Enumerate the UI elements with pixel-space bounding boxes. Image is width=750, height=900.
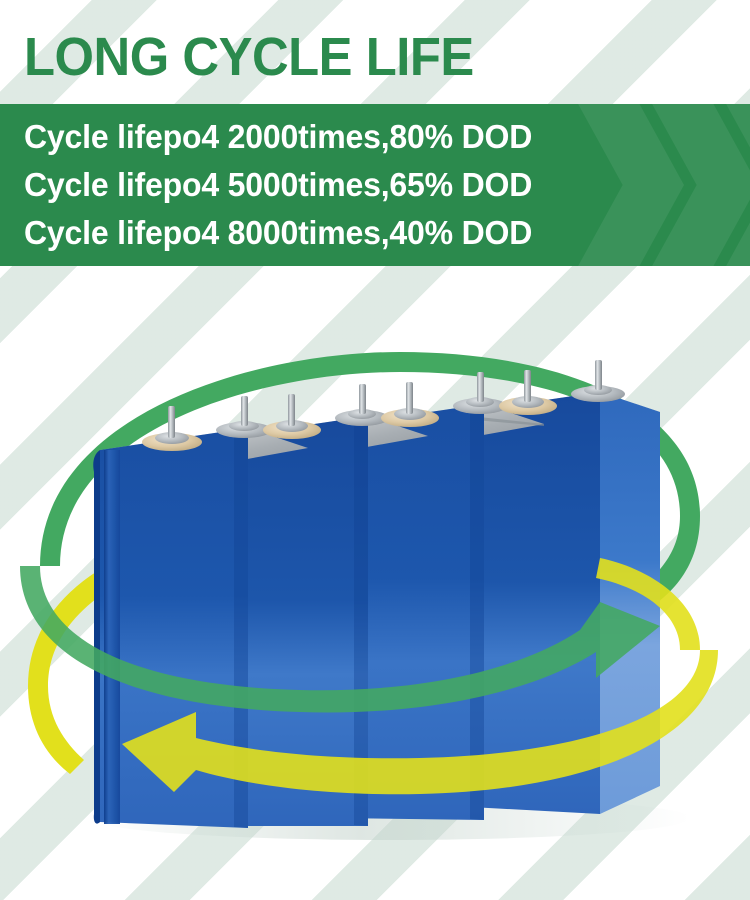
terminal-post — [335, 384, 389, 426]
poster-canvas: LONG CYCLE LIFE Cycle lifepo4 2000times,… — [0, 0, 750, 900]
terminal-post — [263, 394, 321, 439]
spec-line-3: Cycle lifepo4 8000times,40% DOD — [24, 209, 532, 257]
spec-banner: Cycle lifepo4 2000times,80% DOD Cycle li… — [0, 104, 750, 266]
spec-line-2: Cycle lifepo4 5000times,65% DOD — [24, 161, 532, 209]
spec-list: Cycle lifepo4 2000times,80% DOD Cycle li… — [24, 113, 548, 257]
chevron-right-icon — [566, 104, 684, 266]
chevron-right-icon — [640, 104, 750, 266]
terminal-post — [381, 382, 439, 427]
chevron-right-icon — [714, 104, 750, 266]
spec-line-1: Cycle lifepo4 2000times,80% DOD — [24, 113, 532, 161]
page-title: LONG CYCLE LIFE — [24, 26, 474, 88]
product-image — [0, 266, 750, 900]
